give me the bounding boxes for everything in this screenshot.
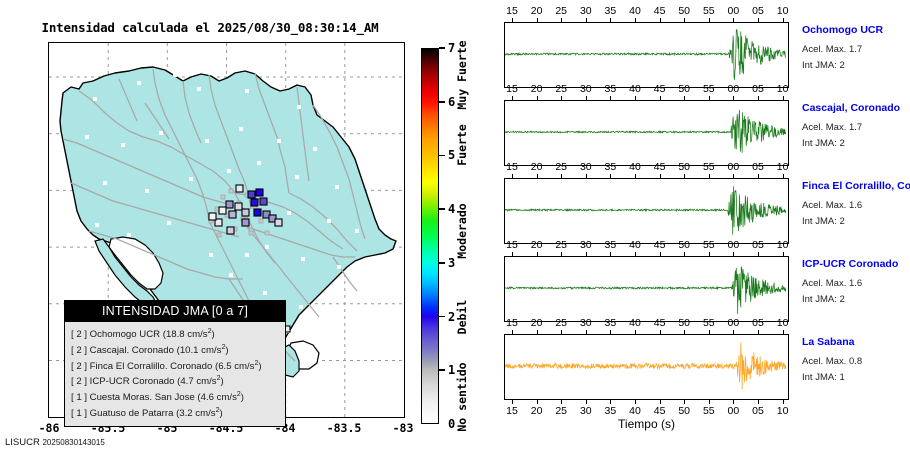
- time-tick-label: 40: [624, 317, 646, 329]
- time-tick-label: 30: [575, 5, 597, 17]
- time-tick-label: 30: [575, 405, 597, 417]
- time-tick-label: 40: [624, 239, 646, 251]
- time-tick-label: 10: [772, 5, 794, 17]
- station-accel-max: Acel. Max. 1.6: [802, 278, 862, 289]
- station-accel-max: Acel. Max. 1.7: [802, 122, 862, 133]
- legend-name: Cuesta Moras. San Jose: [90, 392, 195, 403]
- time-tick-label: 25: [550, 405, 572, 417]
- footer-id: 20250830143015: [42, 438, 104, 447]
- time-tick-label: 40: [624, 83, 646, 95]
- station-int-jma: Int JMA: 2: [802, 60, 845, 71]
- seismogram-trace-panel[interactable]: [504, 22, 789, 88]
- legend-title: INTENSIDAD JMA [0 a 7]: [65, 301, 285, 322]
- time-tick-label: 55: [698, 317, 720, 329]
- legend-rows: [ 2 ] Ochomogo UCR (18.8 cm/s2) [ 2 ] Ca…: [65, 322, 285, 426]
- time-tick-label: 50: [673, 5, 695, 17]
- seismogram-trace-panel[interactable]: [504, 256, 789, 322]
- trace-tick-labels: 152025303540455055000510: [490, 239, 803, 252]
- footer-agency: LISUCR: [5, 437, 40, 448]
- time-tick-label: 55: [698, 405, 720, 417]
- time-tick-label: 05: [747, 317, 769, 329]
- seismogram-trace-panel[interactable]: [504, 178, 789, 244]
- waveform: [505, 179, 786, 241]
- legend-unit: cm/s: [201, 345, 221, 356]
- time-tick-label: 15: [501, 161, 523, 173]
- intensity-colorbar: [421, 48, 439, 424]
- time-tick-label: 35: [599, 317, 621, 329]
- colorbar-tick: [439, 369, 445, 371]
- colorbar-tick: [439, 101, 445, 103]
- legend-unit: cm/s: [217, 392, 237, 403]
- station-int-jma: Int JMA: 2: [802, 138, 845, 149]
- legend-name: Cascajal. Coronado: [90, 345, 174, 356]
- time-tick-label: 45: [649, 161, 671, 173]
- time-tick-label: 35: [599, 83, 621, 95]
- time-tick-label: 30: [575, 239, 597, 251]
- station-name[interactable]: Cascajal, Coronado: [802, 102, 900, 114]
- time-tick-label: 55: [698, 161, 720, 173]
- time-tick-label: 45: [649, 405, 671, 417]
- time-tick-label: 20: [526, 5, 548, 17]
- trace-tick-labels: 152025303540455055000510: [490, 5, 803, 18]
- legend-row: [ 2 ] Cascajal. Coronado (10.1 cm/s2): [71, 342, 280, 358]
- time-tick-label: 20: [526, 405, 548, 417]
- colorbar-tick: [439, 208, 445, 210]
- time-tick-label: 05: [747, 161, 769, 173]
- legend-int: [ 1 ]: [71, 392, 87, 403]
- time-tick-label: 05: [747, 83, 769, 95]
- station-name[interactable]: Finca El Corralillo, Coro: [802, 180, 910, 192]
- time-tick-label: 50: [673, 161, 695, 173]
- legend-name: Guatuso de Patarra: [90, 408, 174, 419]
- legend-int: [ 2 ]: [71, 329, 87, 340]
- trace-tick-labels: 152025303540455055000510: [490, 161, 803, 174]
- time-axis-label: Tiempo (s): [504, 417, 789, 431]
- time-tick-label: 00: [722, 317, 744, 329]
- time-tick-label: 45: [649, 83, 671, 95]
- trace-tick-labels: 152025303540455055000510: [490, 317, 803, 330]
- legend-accel: 4.7: [180, 377, 193, 388]
- time-tick-label: 30: [575, 83, 597, 95]
- time-tick-label: 00: [722, 239, 744, 251]
- legend-unit: cm/s: [196, 377, 216, 388]
- time-tick-label: 15: [501, 5, 523, 17]
- station-name[interactable]: Ochomogo UCR: [802, 24, 883, 36]
- colorbar-category-label: Moderado: [455, 203, 469, 258]
- time-tick-label: 50: [673, 83, 695, 95]
- time-tick-label: 05: [747, 405, 769, 417]
- time-tick-label: 40: [624, 5, 646, 17]
- station-int-jma: Int JMA: 2: [802, 294, 845, 305]
- time-tick-label: 40: [624, 405, 646, 417]
- station-accel-max: Acel. Max. 1.7: [802, 44, 862, 55]
- time-tick-label: 25: [550, 5, 572, 17]
- time-tick-label: 50: [673, 405, 695, 417]
- legend-row: [ 1 ] Guatuso de Patarra (3.2 cm/s2): [71, 405, 280, 421]
- time-tick-label: 45: [649, 239, 671, 251]
- time-tick-label: 35: [599, 405, 621, 417]
- time-tick-label: 45: [649, 317, 671, 329]
- time-tick-label: 55: [698, 5, 720, 17]
- time-tick-label: 25: [550, 83, 572, 95]
- station-name[interactable]: La Sabana: [802, 336, 855, 348]
- legend-unit: cm/s: [187, 329, 207, 340]
- time-tick-label: 20: [526, 239, 548, 251]
- legend-row: [ 1 ] Cuesta Moras. San Jose (4.6 cm/s2): [71, 389, 280, 405]
- time-tick-label: 05: [747, 239, 769, 251]
- legend-int: [ 2 ]: [71, 377, 87, 388]
- legend-row: [ 2 ] Ochomogo UCR (18.8 cm/s2): [71, 326, 280, 342]
- legend-unit: cm/s: [195, 408, 215, 419]
- map-title: Intensidad calculada el 2025/08/30_08:30…: [0, 20, 420, 35]
- time-tick-label: 00: [722, 161, 744, 173]
- legend-name: Finca El Corralillo. Coronado: [90, 361, 213, 372]
- time-tick-label: 20: [526, 317, 548, 329]
- legend-row: [ 2 ] Finca El Corralillo. Coronado (6.5…: [71, 358, 280, 374]
- time-tick-label: 55: [698, 239, 720, 251]
- station-accel-max: Acel. Max. 0.8: [802, 356, 862, 367]
- legend-name: ICP-UCR Coronado: [90, 377, 175, 388]
- time-tick-label: 50: [673, 317, 695, 329]
- time-tick-label: 00: [722, 405, 744, 417]
- colorbar-category-label: Fuerte: [455, 124, 469, 166]
- legend-accel: 4.6: [201, 392, 214, 403]
- station-int-jma: Int JMA: 2: [802, 216, 845, 227]
- time-tick-label: 35: [599, 161, 621, 173]
- time-tick-label: 35: [599, 239, 621, 251]
- seismogram-trace-panel[interactable]: [504, 100, 789, 166]
- time-tick-label: 25: [550, 161, 572, 173]
- time-tick-label: 20: [526, 83, 548, 95]
- colorbar-category-label: Debil: [455, 299, 469, 334]
- waveform: [505, 23, 786, 85]
- colorbar-tick: [439, 316, 445, 318]
- legend-name: Ochomogo UCR: [90, 329, 160, 340]
- time-tick-label: 20: [526, 161, 548, 173]
- legend-accel: 6.5: [218, 361, 231, 372]
- time-tick-label: 15: [501, 239, 523, 251]
- station-name[interactable]: ICP-UCR Coronado: [802, 258, 898, 270]
- time-tick-label: 45: [649, 5, 671, 17]
- trace-tick-labels: 152025303540455055000510: [490, 83, 803, 96]
- station-accel-max: Acel. Max. 1.6: [802, 200, 862, 211]
- time-tick-label: 35: [599, 5, 621, 17]
- time-tick-label: 00: [722, 5, 744, 17]
- station-int-jma: Int JMA: 1: [802, 372, 845, 383]
- time-tick-label: 25: [550, 239, 572, 251]
- legend-int: [ 2 ]: [71, 345, 87, 356]
- time-tick-label: 10: [772, 405, 794, 417]
- colorbar-tick: [439, 47, 445, 49]
- time-tick-label: 15: [501, 317, 523, 329]
- legend-accel: 10.1: [180, 345, 199, 356]
- time-tick-label: 25: [550, 317, 572, 329]
- waveform: [505, 101, 786, 163]
- footer: LISUCR 20250830143015: [5, 437, 105, 448]
- colorbar-category-label: No sentido: [455, 363, 469, 432]
- time-tick-label: 10: [772, 239, 794, 251]
- time-tick-label: 15: [501, 405, 523, 417]
- time-tick-label: 10: [772, 317, 794, 329]
- legend-row: [ 2 ] ICP-UCR Coronado (4.7 cm/s2): [71, 373, 280, 389]
- legend-int: [ 1 ]: [71, 408, 87, 419]
- trace-tick-marks: [504, 400, 789, 404]
- time-tick-label: 10: [772, 83, 794, 95]
- legend-accel: 18.8: [166, 329, 185, 340]
- legend-accel: 3.2: [179, 408, 192, 419]
- waveform: [505, 335, 786, 397]
- legend-unit: cm/s: [234, 361, 254, 372]
- legend-int: [ 2 ]: [71, 361, 87, 372]
- time-tick-label: 30: [575, 317, 597, 329]
- time-tick-label: 55: [698, 83, 720, 95]
- colorbar-tick: [439, 155, 445, 157]
- colorbar-tick: [439, 262, 445, 264]
- x-tick-5: -83.5: [316, 421, 372, 435]
- time-tick-label: 30: [575, 161, 597, 173]
- time-tick-label: 00: [722, 83, 744, 95]
- intensity-legend: INTENSIDAD JMA [0 a 7] [ 2 ] Ochomogo UC…: [64, 300, 286, 427]
- time-tick-label: 40: [624, 161, 646, 173]
- time-tick-label: 15: [501, 83, 523, 95]
- time-tick-label: 10: [772, 161, 794, 173]
- waveform: [505, 257, 786, 319]
- seismogram-trace-panel[interactable]: [504, 334, 789, 400]
- time-tick-label: 50: [673, 239, 695, 251]
- colorbar-category-label: Muy Fuerte: [455, 40, 469, 109]
- time-tick-label: 05: [747, 5, 769, 17]
